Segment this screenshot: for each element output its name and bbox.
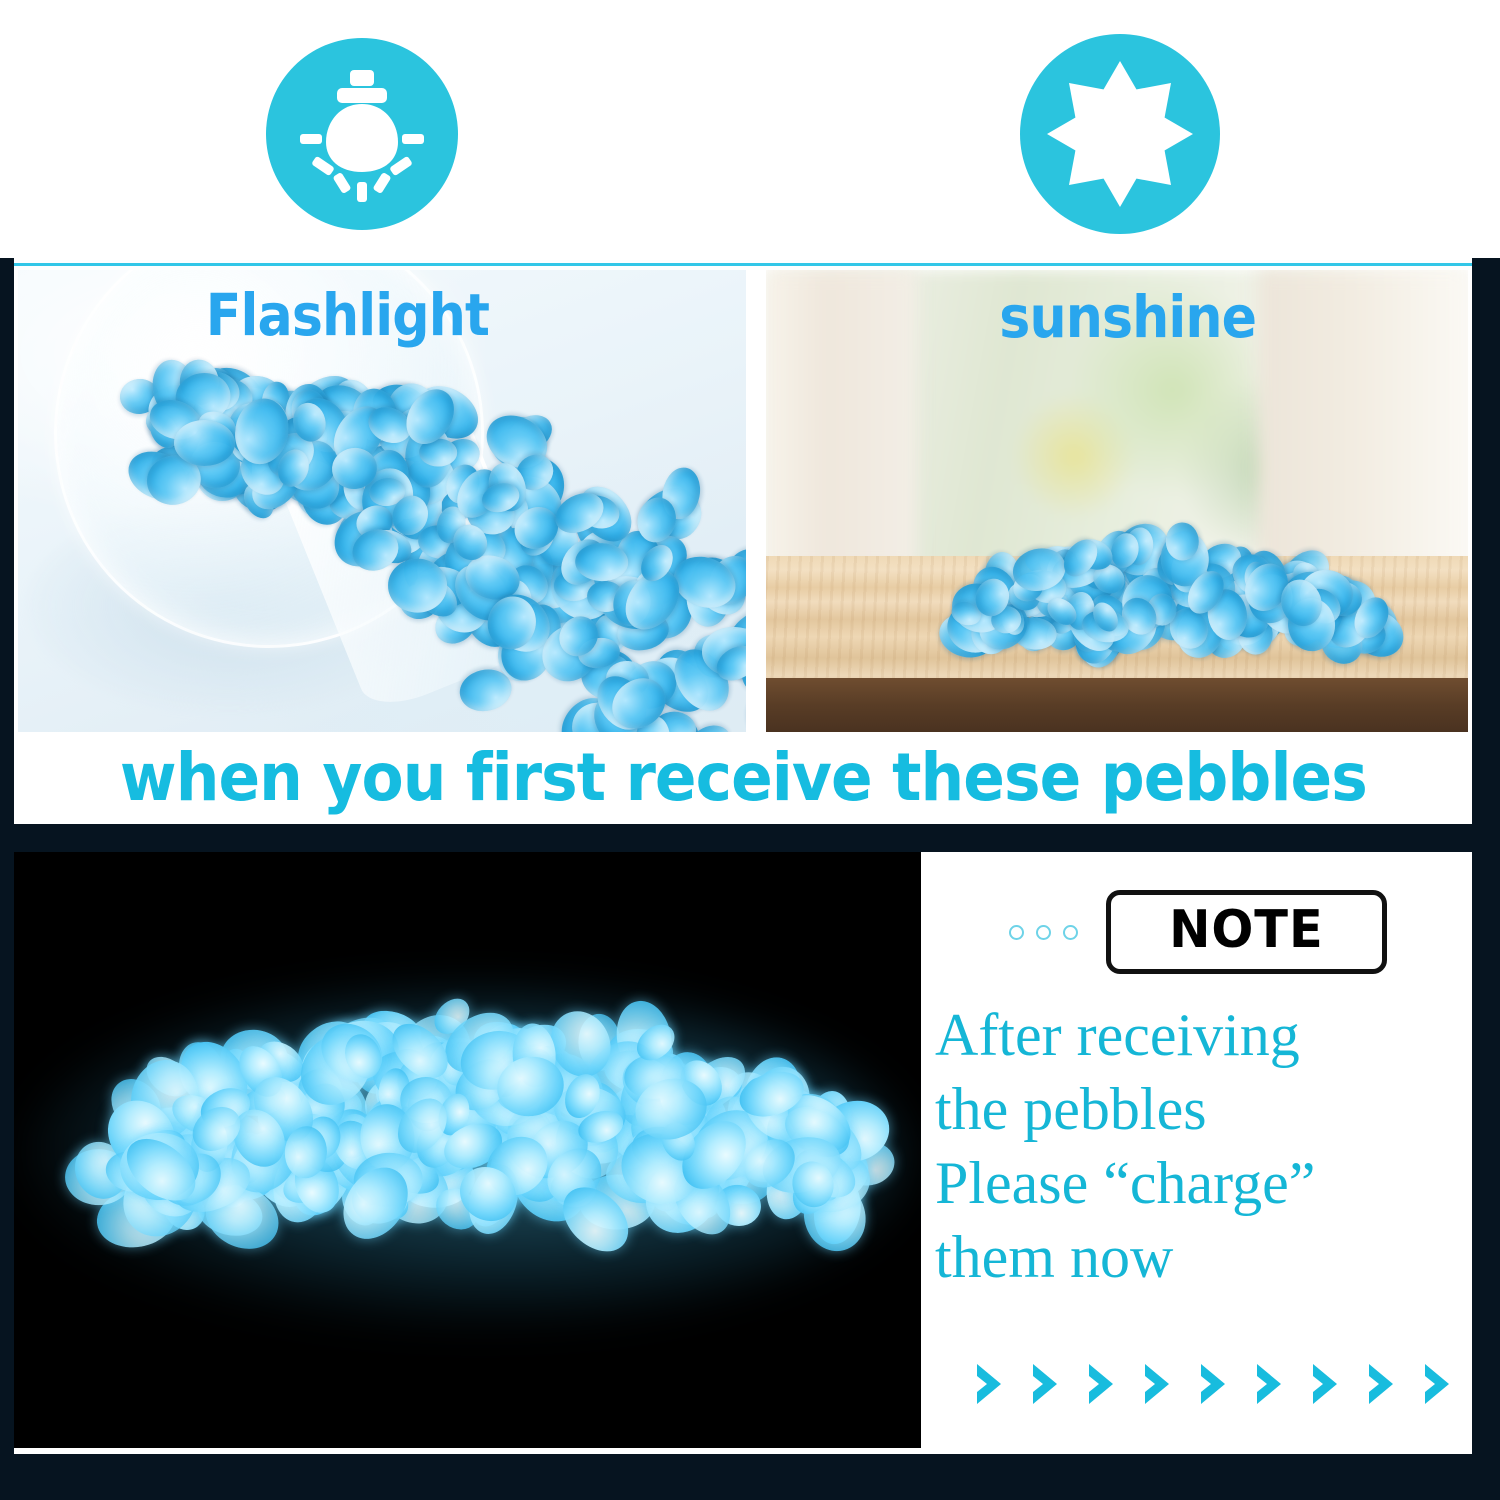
note-body: After receiving the pebbles Please “char… (935, 998, 1483, 1294)
chevron-right-icon (1307, 1360, 1343, 1408)
flashlight-icon-badge (266, 38, 458, 230)
chevron-right-icon (1419, 1360, 1455, 1408)
chevron-right-icon (1027, 1360, 1063, 1408)
note-line-1: After receiving (935, 998, 1483, 1072)
note-badge-label: NOTE (1169, 904, 1324, 956)
dot-icon (1063, 925, 1078, 940)
sun-icon (1045, 59, 1195, 209)
dot-icon (1009, 925, 1024, 940)
note-line-4: them now (935, 1220, 1483, 1294)
dots-decoration (1009, 925, 1078, 940)
dot-icon (1036, 925, 1051, 940)
chevron-right-icon (1195, 1360, 1231, 1408)
border-right (1472, 258, 1500, 1500)
note-panel: NOTE After receiving the pebbles Please … (921, 852, 1472, 1454)
note-line-2: the pebbles (935, 1072, 1483, 1146)
chevron-right-icon (1363, 1360, 1399, 1408)
chevron-arrow-row (971, 1360, 1455, 1408)
border-bottom (0, 1454, 1500, 1500)
lower-section-frame: NOTE After receiving the pebbles Please … (14, 852, 1472, 1454)
pebble (388, 559, 447, 613)
sunshine-label: sunshine (999, 288, 1256, 346)
border-middle (0, 824, 1500, 852)
glowing-pebbles-photo (14, 852, 921, 1448)
banner-strip: when you first receive these pebbles (18, 736, 1468, 820)
border-left (0, 258, 14, 1500)
banner-text: when you first receive these pebbles (120, 745, 1367, 811)
pebble (739, 684, 746, 732)
glow-pebbles-pile (14, 852, 921, 1448)
note-line-3: Please “charge” (935, 1146, 1483, 1220)
lightbulb-icon (296, 64, 428, 204)
pebble (174, 419, 236, 465)
flashlight-label: Flashlight (206, 286, 489, 344)
icon-header-row (0, 0, 1500, 258)
infographic-page: when you first receive these pebbles Fla… (0, 0, 1500, 1500)
note-header: NOTE (1009, 890, 1387, 974)
chevron-right-icon (1139, 1360, 1175, 1408)
sunshine-icon-badge (1020, 34, 1220, 234)
pebble (1165, 522, 1199, 561)
chevron-right-icon (971, 1360, 1007, 1408)
chevron-right-icon (1251, 1360, 1287, 1408)
chevron-right-icon (1083, 1360, 1119, 1408)
note-badge: NOTE (1106, 890, 1387, 974)
